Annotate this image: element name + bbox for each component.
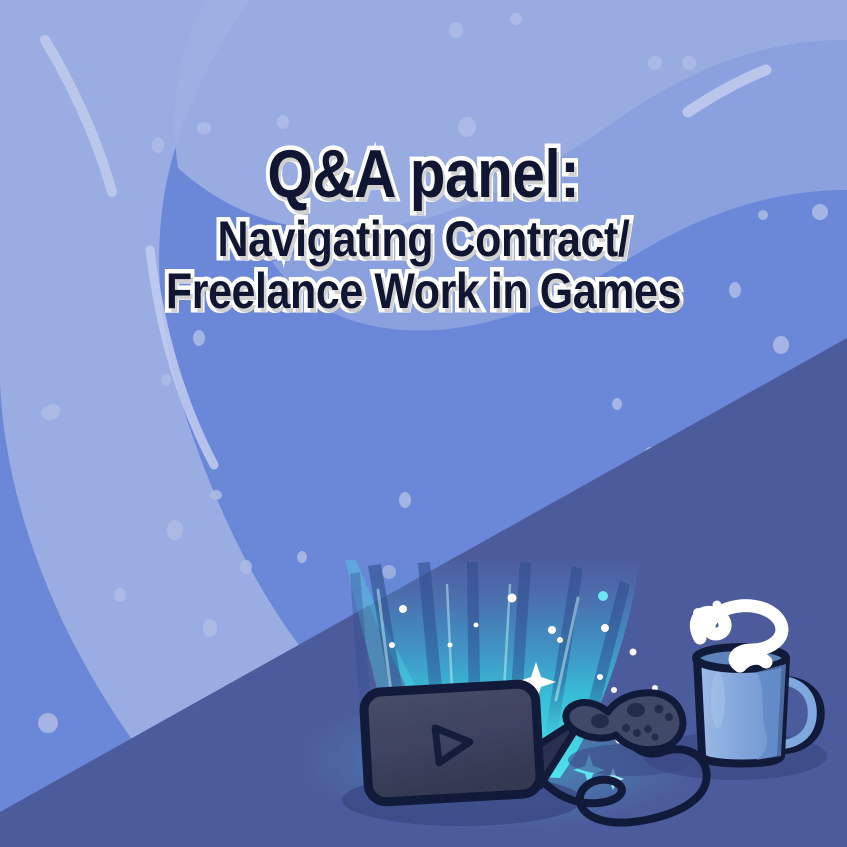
speckle [240, 560, 252, 574]
speckle [193, 330, 205, 346]
steam-dot [713, 601, 722, 610]
speckle [758, 210, 768, 220]
sparkle-dot [474, 623, 479, 628]
speckle [596, 279, 608, 293]
controller-button-x [622, 724, 630, 732]
sparkle-dot [399, 605, 407, 613]
speckle [167, 520, 183, 540]
speckle [729, 282, 741, 298]
speckle [449, 22, 463, 38]
sparkle-dot [597, 674, 603, 680]
controller-button-d [652, 734, 659, 741]
mug-gloss [711, 672, 725, 728]
speckle [297, 551, 307, 563]
controller-button-a [655, 705, 664, 714]
speckle [510, 13, 522, 25]
sparkle-dot [508, 594, 517, 603]
sparkle-dot [598, 591, 608, 601]
laptop-screen [363, 683, 541, 802]
speckle [152, 137, 164, 153]
sparkle-dot [548, 626, 556, 634]
speckle [197, 122, 211, 134]
steam-dot [693, 608, 703, 618]
controller-button-b [665, 713, 673, 721]
speckle [773, 336, 789, 354]
controller-button-y [633, 729, 641, 737]
speckle [648, 56, 662, 70]
controller-button-c [644, 725, 652, 733]
speckle [277, 115, 289, 129]
sparkle-dot [389, 642, 395, 648]
controller-dpad [627, 703, 645, 717]
speckle [203, 619, 217, 637]
sparkle-dot [611, 687, 617, 693]
sparkle-dot [448, 643, 453, 648]
sparkle-dot [557, 637, 563, 643]
speckle [682, 56, 696, 70]
speckle [114, 588, 126, 602]
speckle [240, 243, 254, 261]
poster-canvas: Q&A panel: Navigating Contract/ Freelanc… [0, 0, 847, 847]
speckle [812, 204, 828, 220]
speckle [458, 117, 476, 137]
sparkle-dot [630, 649, 637, 656]
sparkle-dot [601, 624, 609, 632]
poster-artwork [0, 0, 847, 847]
speckle [46, 404, 60, 416]
speckle [210, 490, 222, 500]
speckle [161, 374, 171, 386]
speckle [38, 713, 58, 733]
speckle [612, 398, 622, 410]
controller-thumbstick-left [591, 714, 609, 728]
